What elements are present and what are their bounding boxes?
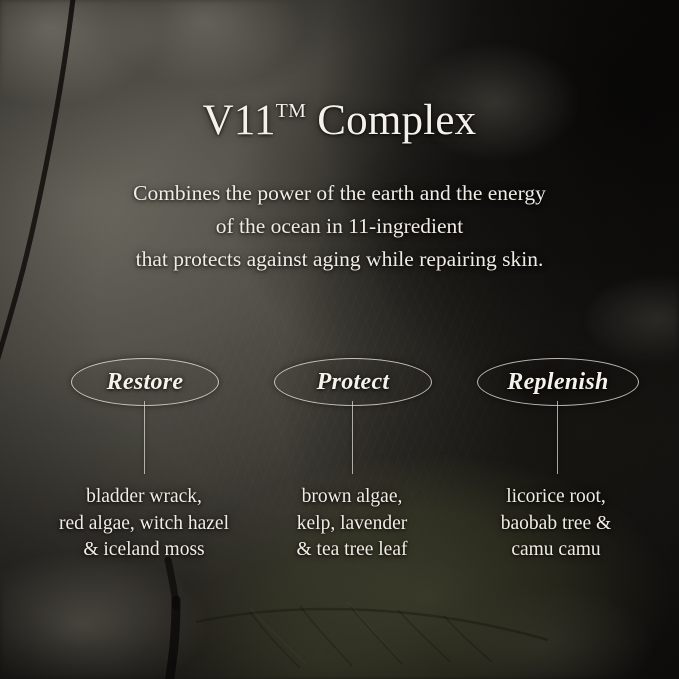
ingredient-line-2: baobab tree & [452, 511, 660, 538]
subtitle-line-1: Combines the power of the earth and the … [0, 177, 679, 210]
ingredient-line-2: red algae, witch hazel [29, 511, 259, 538]
connector-line-replenish [557, 401, 558, 474]
pillar-badge-restore: Restore [71, 358, 219, 406]
pillar-label: Restore [107, 369, 184, 396]
subtitle-line-3: that protects against aging while repair… [0, 243, 679, 276]
ingredient-line-2: kelp, lavender [250, 511, 454, 538]
page-title: V11TM Complex [0, 96, 679, 145]
title-suffix-text: Complex [306, 97, 476, 144]
ingredient-line-3: & iceland moss [29, 537, 259, 564]
subtitle-line-2: of the ocean in 11-ingredient [0, 210, 679, 243]
ingredient-list-replenish: licorice root, baobab tree & camu camu [452, 484, 660, 564]
ingredient-line-3: & tea tree leaf [250, 537, 454, 564]
ingredient-line-3: camu camu [452, 537, 660, 564]
pillar-badge-replenish: Replenish [477, 358, 639, 406]
title-main-text: V11 [203, 97, 276, 144]
ingredient-line-1: brown algae, [250, 484, 454, 511]
ingredient-line-1: bladder wrack, [29, 484, 259, 511]
connector-line-protect [352, 401, 353, 474]
pillar-badge-protect: Protect [274, 358, 432, 406]
ingredient-list-protect: brown algae, kelp, lavender & tea tree l… [250, 484, 454, 564]
pillar-label: Protect [317, 369, 390, 396]
subtitle-block: Combines the power of the earth and the … [0, 177, 679, 276]
ingredient-list-restore: bladder wrack, red algae, witch hazel & … [29, 484, 259, 564]
v11-complex-infographic: V11TM Complex Combines the power of the … [0, 0, 679, 679]
connector-line-restore [144, 401, 145, 474]
content-layer: V11TM Complex Combines the power of the … [0, 0, 679, 679]
ingredient-line-1: licorice root, [452, 484, 660, 511]
pillar-label: Replenish [507, 369, 608, 396]
trademark-symbol: TM [276, 100, 307, 122]
